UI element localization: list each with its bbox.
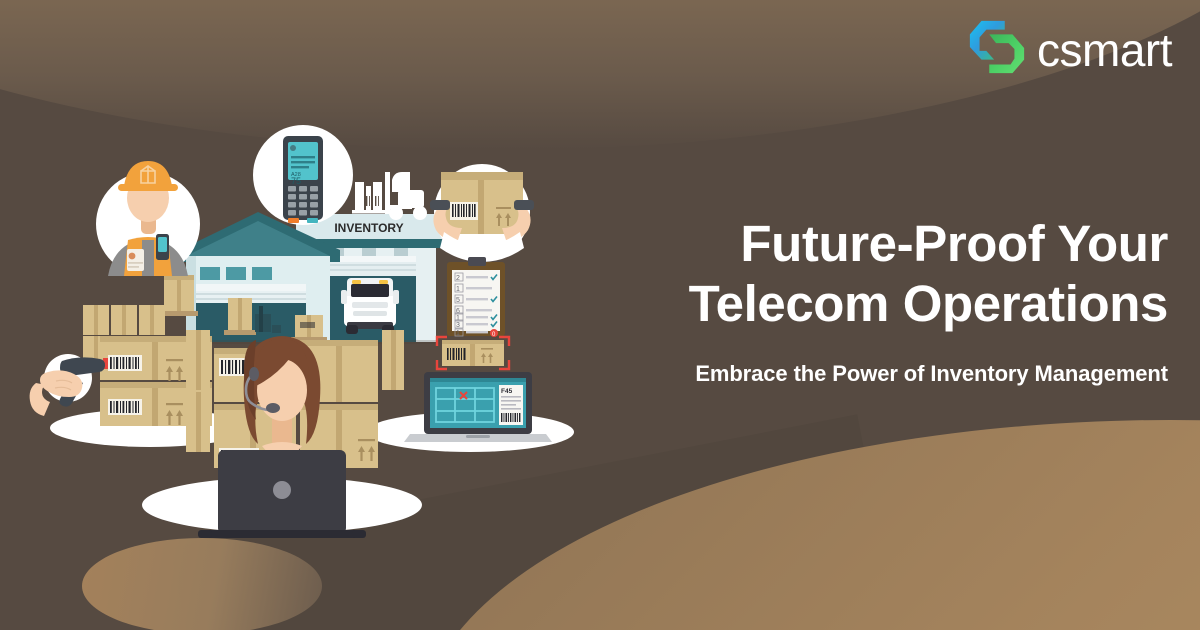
laptop-warehouse-map: F45: [404, 372, 552, 442]
delivery-truck: [341, 278, 399, 334]
handheld-barcode-scanner-circle: A28 75: [253, 125, 353, 225]
clipboard-checklist: 2 1 5 6 1 3: [447, 257, 505, 338]
headline-line-2: Telecom Operations: [568, 274, 1168, 334]
checklist-num-7: 1: [456, 330, 460, 337]
brand-logo[interactable]: csmart: [966, 16, 1172, 83]
laptop-label-text: F45: [501, 388, 513, 395]
hands-holding-box: [430, 164, 534, 262]
barcode-gun-hand: [30, 354, 108, 416]
checklist-num-4: 6: [456, 308, 460, 315]
checklist-num-6: 3: [456, 322, 460, 329]
checklist-num-2: 1: [456, 286, 460, 293]
scanned-box-brackets: [437, 337, 509, 369]
csmart-s-mark-icon: [966, 16, 1028, 83]
headline-line-1: Future-Proof Your: [568, 214, 1168, 274]
scanner-value-text: 75: [291, 176, 301, 186]
forklift-icon: [352, 172, 427, 220]
headline: Future-Proof Your Telecom Operations: [568, 214, 1168, 334]
checklist-num-1: 2: [456, 275, 460, 282]
banner-canvas: csmart Future-Proof Your Telecom Operati…: [0, 0, 1200, 630]
inventory-illustration: INVENTORY: [0, 0, 600, 630]
hero-copy: Future-Proof Your Telecom Operations Emb…: [568, 214, 1168, 387]
warehouse-worker-avatar: [96, 161, 200, 276]
checklist-num-3: 5: [456, 297, 460, 304]
inventory-sign-text: INVENTORY: [334, 221, 403, 235]
checklist-num-5: 1: [456, 315, 460, 322]
subheadline: Embrace the Power of Inventory Managemen…: [568, 361, 1168, 387]
brand-name: csmart: [1037, 23, 1172, 77]
